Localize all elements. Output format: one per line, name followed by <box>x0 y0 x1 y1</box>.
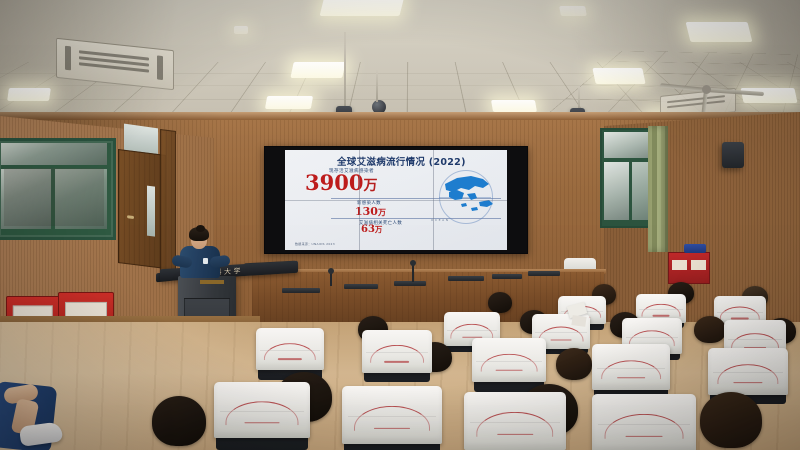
chair-cover-logo <box>717 364 778 384</box>
chair-back-cover <box>256 328 324 370</box>
nameplate-holder <box>528 271 560 276</box>
red-cabinet[interactable] <box>668 252 710 284</box>
ceiling-light-icon <box>320 0 405 16</box>
chair-cover-logo <box>720 306 760 319</box>
chair-back-cover <box>342 386 442 444</box>
ceiling-light-icon <box>592 68 645 84</box>
window-curtain[interactable] <box>648 126 668 252</box>
ceiling-light-icon <box>265 96 313 109</box>
ceiling-light-icon <box>290 62 345 78</box>
speaker-badge <box>203 258 208 264</box>
world-map-graphic: OCEAN <box>431 166 503 222</box>
slide-stat-living: 3900万 <box>305 172 377 197</box>
cabinet-label <box>691 260 705 270</box>
microphone-icon <box>412 264 414 282</box>
video-wall-display: 全球艾滋病流行情况 (2022) 现存活艾滋病感染者 3900万 新感染人数 1… <box>264 146 528 254</box>
ceiling-light-icon <box>7 88 51 101</box>
ceiling-light-icon <box>491 100 537 112</box>
ceiling-light-icon <box>686 22 753 42</box>
wall-speaker-icon <box>722 142 744 168</box>
world-map-icon <box>431 166 503 222</box>
chair-back-cover <box>214 382 310 438</box>
audience-head <box>488 292 512 313</box>
nameplate-holder <box>394 281 426 286</box>
window-interior-objects <box>4 168 104 226</box>
chair-cover-logo <box>264 343 316 361</box>
speaker-hair-bun <box>196 225 205 232</box>
chair-cover-logo <box>539 326 584 341</box>
nameplate-holder <box>448 276 484 281</box>
audience-head <box>152 396 206 446</box>
chair-cover-logo <box>601 360 661 379</box>
chair-cover-logo <box>450 324 493 339</box>
audience-head <box>694 316 726 343</box>
door-vision-panel <box>147 186 155 237</box>
nameplate-holder <box>344 284 378 289</box>
presentation-slide: 全球艾滋病流行情况 (2022) 现存活艾滋病感染者 3900万 新感染人数 1… <box>285 150 507 250</box>
door-handle-icon <box>127 215 134 219</box>
door-frame-right <box>160 129 176 273</box>
chair-back-cover <box>592 344 670 390</box>
chair-back-cover <box>464 392 566 450</box>
chair-cover-logo <box>481 353 538 372</box>
chair-cover-logo <box>731 333 779 349</box>
audience-head <box>556 348 592 380</box>
audience-head <box>700 392 762 448</box>
slide-source-note: 数据来源：UNAIDS 2023 <box>295 242 335 246</box>
blue-bin <box>684 244 706 253</box>
chair-back-cover <box>362 330 432 373</box>
chair-cover-logo <box>476 412 553 436</box>
chair-back-cover <box>472 338 546 382</box>
lecture-hall-photo: 全球艾滋病流行情况 (2022) 现存活艾滋病感染者 3900万 新感染人数 1… <box>0 0 800 450</box>
ceiling-light-icon <box>559 6 587 16</box>
nameplate-holder <box>492 274 522 279</box>
podium-plate <box>200 280 224 284</box>
ceiling-mount-rod <box>344 32 346 114</box>
chair-back-cover <box>708 348 788 395</box>
chair-back-cover <box>592 394 696 450</box>
wall-cornice <box>0 112 800 120</box>
chair-cover-logo <box>605 414 684 438</box>
chair-cover-logo <box>370 345 424 363</box>
slide-stat-deaths: 63万 <box>361 225 382 235</box>
chair-cover-logo <box>225 402 298 425</box>
handout-paper <box>571 315 586 327</box>
chair-cover-logo <box>642 304 681 317</box>
chair-cover-logo <box>354 406 430 430</box>
ceiling-mount-rod <box>376 70 378 102</box>
entry-door <box>118 149 166 269</box>
ceiling-light-icon <box>234 26 248 34</box>
panel-seam <box>285 200 507 201</box>
microphone-icon <box>330 272 332 286</box>
cabinet-label <box>672 260 686 270</box>
nameplate-holder <box>282 288 320 293</box>
